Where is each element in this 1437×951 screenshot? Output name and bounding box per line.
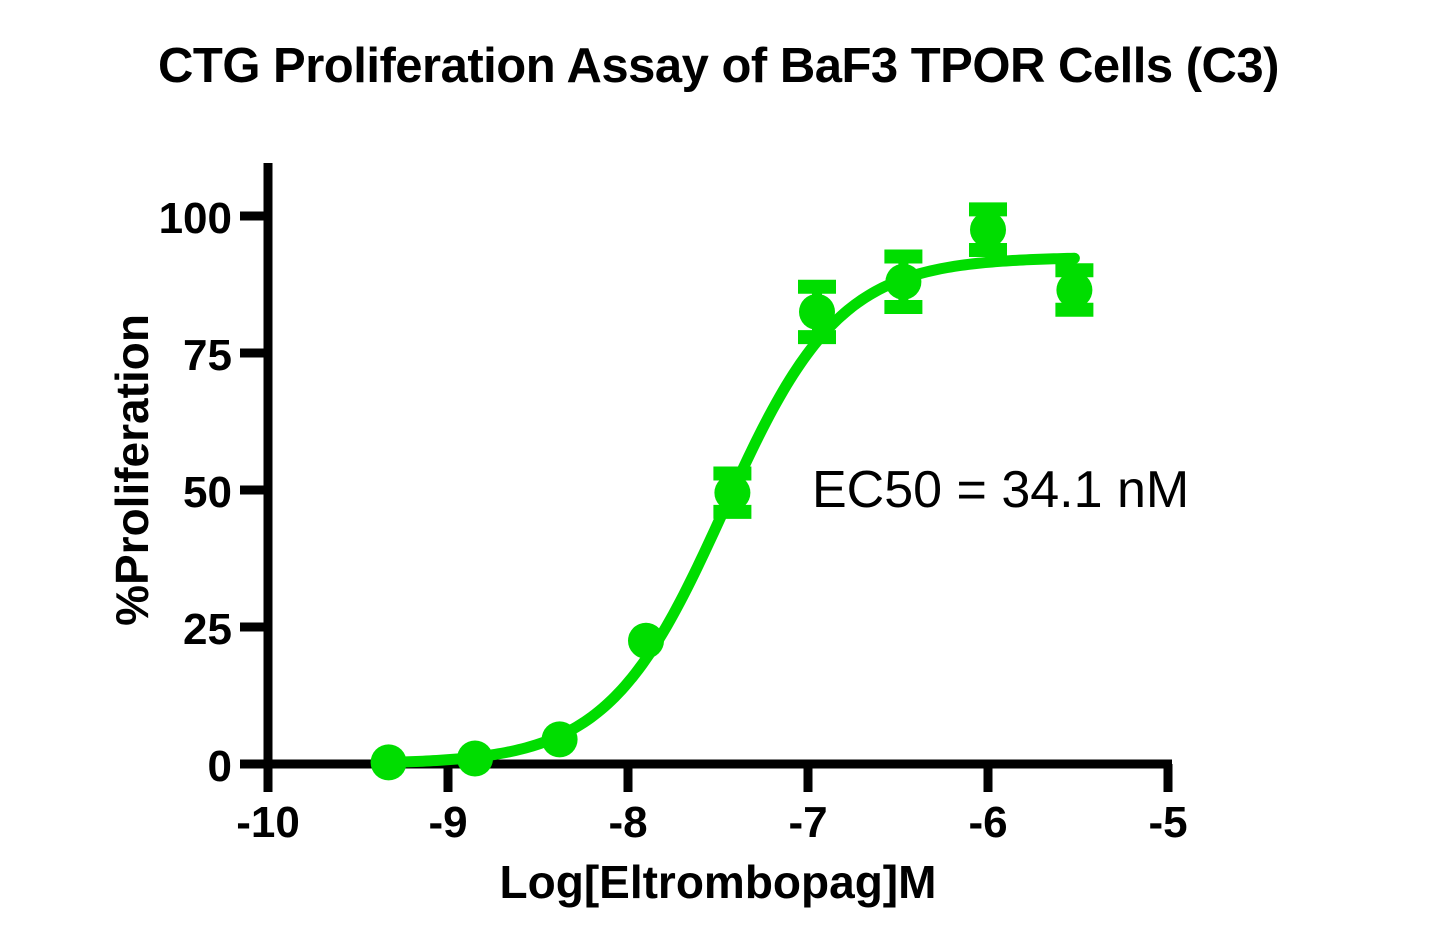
x-tick-label--8: -8 bbox=[608, 798, 647, 847]
x-tick-label--7: -7 bbox=[788, 798, 827, 847]
x-tick-label--9: -9 bbox=[428, 798, 467, 847]
y-tick-label-50: 50 bbox=[183, 468, 232, 517]
chart-figure: CTG Proliferation Assay of BaF3 TPOR Cel… bbox=[0, 0, 1437, 951]
data-point-marker bbox=[542, 721, 578, 757]
x-tick-label--6: -6 bbox=[968, 798, 1007, 847]
data-point-marker bbox=[799, 294, 835, 330]
x-tick-label--10: -10 bbox=[236, 798, 300, 847]
data-point-marker bbox=[628, 623, 664, 659]
y-tick-label-0: 0 bbox=[208, 742, 232, 791]
y-tick-label-100: 100 bbox=[159, 194, 232, 243]
data-point-marker bbox=[1056, 272, 1092, 308]
y-axis-title: %Proliferation bbox=[106, 314, 158, 626]
data-point-marker bbox=[885, 264, 921, 300]
y-tick-label-25: 25 bbox=[183, 605, 232, 654]
data-point-marker bbox=[970, 212, 1006, 248]
y-tick-label-75: 75 bbox=[183, 331, 232, 380]
data-point-marker bbox=[457, 741, 493, 777]
x-tick-label--5: -5 bbox=[1148, 798, 1187, 847]
plot-area: 100 75 50 25 0 -10 -9 -8 -7 -6 -5 Log[El… bbox=[0, 0, 1437, 951]
data-point-marker bbox=[714, 475, 750, 511]
data-point-marker bbox=[371, 744, 407, 780]
ec50-annotation: EC50 = 34.1 nM bbox=[812, 461, 1189, 519]
x-axis-title: Log[Eltrombopag]M bbox=[500, 856, 937, 908]
